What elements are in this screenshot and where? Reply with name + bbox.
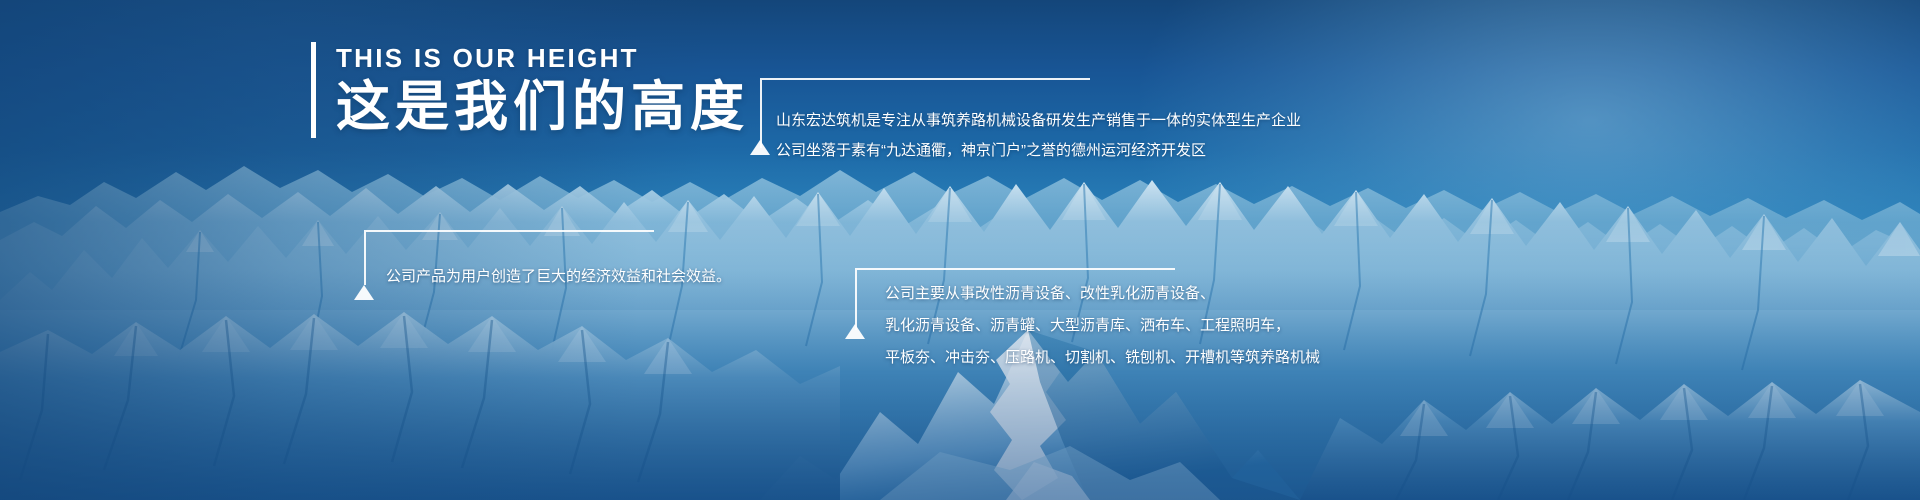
- callout-line: 公司产品为用户创造了巨大的经济效益和社会效益。: [386, 262, 731, 292]
- callout-line: 山东宏达筑机是专注从事筑养路机械设备研发生产销售于一体的实体型生产企业: [776, 106, 1301, 136]
- page-title: THIS IS OUR HEIGHT 这是我们的高度: [311, 42, 749, 138]
- triangle-up-arrow-icon: [750, 140, 770, 155]
- title-english: THIS IS OUR HEIGHT: [336, 42, 749, 74]
- callout-text-lines: 公司主要从事改性沥青设备、改性乳化沥青设备、 乳化沥青设备、沥青罐、大型沥青库、…: [885, 278, 1320, 374]
- mountain-range-image: [0, 0, 1920, 500]
- title-chinese: 这是我们的高度: [336, 76, 749, 138]
- callout-line: 公司主要从事改性沥青设备、改性乳化沥青设备、: [885, 278, 1320, 310]
- callout-line: 平板夯、冲击夯、压路机、切割机、铣刨机、开槽机等筑养路机械: [885, 342, 1320, 374]
- triangle-up-arrow-icon: [354, 285, 374, 300]
- callout-line: 乳化沥青设备、沥青罐、大型沥青库、洒布车、工程照明车，: [885, 310, 1320, 342]
- triangle-up-arrow-icon: [845, 324, 865, 339]
- callout-line: 公司坐落于素有“九达通衢，神京门户”之誉的德州运河经济开发区: [776, 136, 1301, 166]
- callout-text-lines: 山东宏达筑机是专注从事筑养路机械设备研发生产销售于一体的实体型生产企业 公司坐落…: [776, 106, 1301, 166]
- callout-text-lines: 公司产品为用户创造了巨大的经济效益和社会效益。: [386, 262, 731, 292]
- hero-banner: THIS IS OUR HEIGHT 这是我们的高度 山东宏达筑机是专注从事筑养…: [0, 0, 1920, 500]
